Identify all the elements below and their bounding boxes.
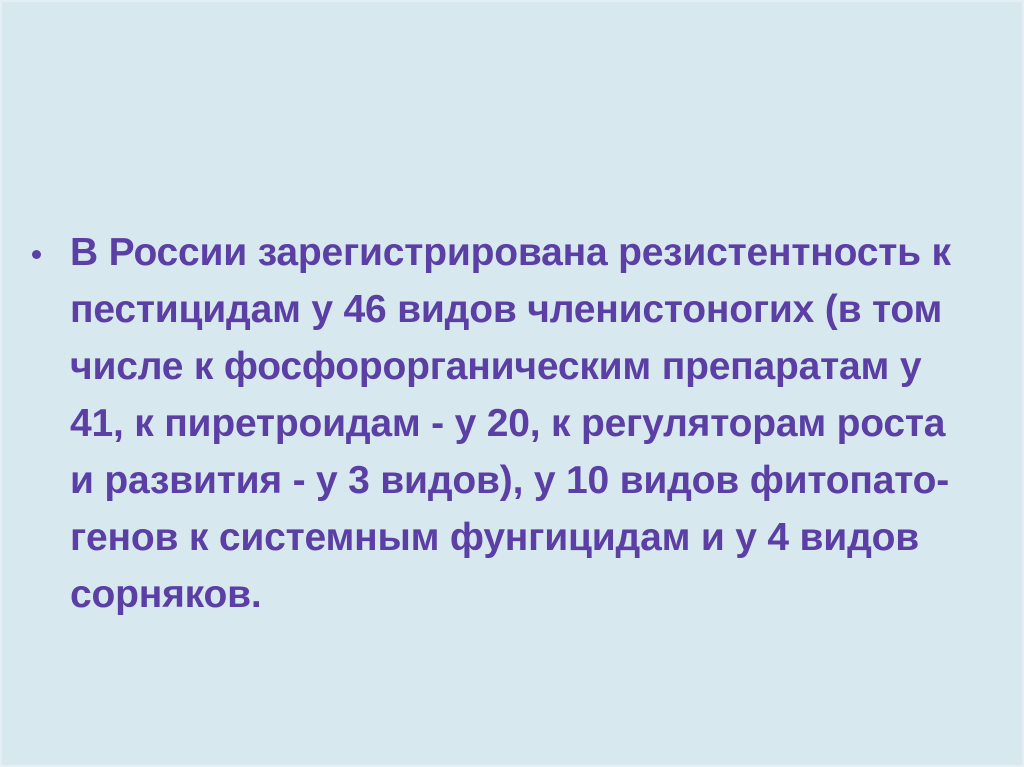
bullet-list: В России зарегистрирована резистентность… <box>2 224 1024 623</box>
slide-canvas: В России зарегистрирована резистентность… <box>0 0 1024 767</box>
bullet-item-text: В России зарегистрирована резистентность… <box>70 224 998 623</box>
bullet-dot-icon <box>32 250 41 259</box>
list-item: В России зарегистрирована резистентность… <box>2 224 1024 623</box>
